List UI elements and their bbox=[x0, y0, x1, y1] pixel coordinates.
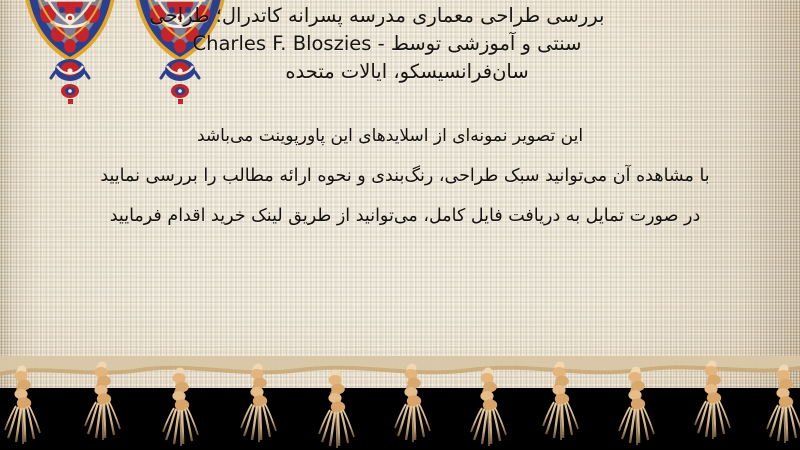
slide-title: بررسی طراحی معماری مدرسه پسرانه کاتدرال؛… bbox=[22, 2, 792, 86]
title-line-1: بررسی طراحی معماری مدرسه پسرانه کاتدرال؛… bbox=[22, 2, 792, 30]
body-line-1: این تصویر نمونه‌ای از اسلایدهای این پاور… bbox=[10, 116, 800, 156]
body-line-2: با مشاهده آن می‌توانید سبک طراحی، رنگ‌بن… bbox=[10, 156, 800, 196]
slide-body-text: این تصویر نمونه‌ای از اسلایدهای این پاور… bbox=[10, 116, 800, 236]
text-layer: بررسی طراحی معماری مدرسه پسرانه کاتدرال؛… bbox=[0, 0, 800, 388]
title-line-2: سنتی و آموزشی توسط - Charles F. Bloszies bbox=[22, 30, 792, 58]
title-line-3: سان‌فرانسیسکو، ایالات متحده bbox=[22, 58, 792, 86]
slide-image: بررسی طراحی معماری مدرسه پسرانه کاتدرال؛… bbox=[0, 0, 800, 450]
body-line-3: در صورت تمایل به دریافت فایل کامل، می‌تو… bbox=[10, 196, 800, 236]
